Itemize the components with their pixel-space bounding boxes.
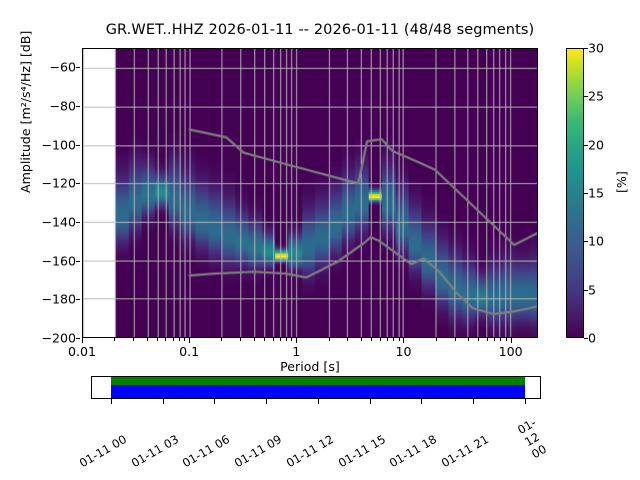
x-axis-tick-mark bbox=[506, 338, 507, 341]
time-axis-tick-label: 01-11 15 bbox=[335, 432, 387, 470]
y-axis-tick-label: −160 bbox=[6, 253, 76, 268]
x-axis-tick-mark bbox=[291, 338, 292, 341]
y-axis-tick-mark bbox=[76, 183, 80, 184]
ppsd-density-canvas bbox=[83, 49, 537, 337]
time-axis-tick-mark bbox=[318, 399, 319, 404]
y-axis-tick-mark bbox=[76, 67, 80, 68]
y-axis-tick-mark bbox=[76, 222, 80, 223]
time-axis-tick-mark bbox=[473, 399, 474, 404]
y-axis-tick-label: −80 bbox=[6, 99, 76, 114]
time-axis-tick-mark bbox=[525, 399, 526, 404]
x-axis-tick-mark bbox=[399, 338, 400, 341]
y-axis-tick-mark bbox=[76, 261, 80, 262]
time-axis-tick-mark bbox=[370, 399, 371, 404]
colorbar-tick-label: 15 bbox=[588, 186, 604, 201]
x-axis-tick-label: 0.01 bbox=[68, 344, 96, 359]
x-axis-tick-mark bbox=[380, 338, 381, 341]
y-axis-tick-mark bbox=[76, 106, 80, 107]
x-axis-tick-mark bbox=[157, 338, 158, 341]
time-axis-tick-mark bbox=[214, 399, 215, 404]
x-axis-label: Period [s] bbox=[82, 359, 538, 374]
time-axis-tick-label: 01-11 21 bbox=[439, 432, 491, 470]
colorbar-tick-label: 0 bbox=[588, 331, 596, 346]
y-axis-tick-label: −120 bbox=[6, 176, 76, 191]
x-axis-tick-mark bbox=[286, 338, 287, 341]
x-axis-tick-mark bbox=[179, 338, 180, 341]
colorbar-tick-mark bbox=[584, 145, 588, 146]
x-axis-tick-mark bbox=[455, 338, 456, 341]
x-axis-tick-mark bbox=[82, 338, 83, 343]
x-axis-tick-mark bbox=[273, 338, 274, 341]
x-axis-tick-mark bbox=[240, 338, 241, 341]
colorbar-tick-mark bbox=[584, 290, 588, 291]
time-axis-tick-label: 01-11 00 bbox=[77, 432, 129, 470]
coverage-bar[interactable] bbox=[91, 376, 541, 399]
x-axis-tick-mark bbox=[487, 338, 488, 341]
time-axis-tick-label: 01-11 18 bbox=[387, 432, 439, 470]
ppsd-figure: GR.WET..HHZ 2026-01-11 -- 2026-01-11 (48… bbox=[0, 0, 640, 480]
colorbar-tick-mark bbox=[584, 338, 588, 339]
y-axis-tick-label: −180 bbox=[6, 292, 76, 307]
y-axis-tick-label: −100 bbox=[6, 137, 76, 152]
colorbar-tick-mark bbox=[584, 96, 588, 97]
time-axis-tick-mark bbox=[266, 399, 267, 404]
y-axis-ticks: −60−80−100−120−140−160−180−200 bbox=[0, 48, 76, 338]
x-axis-tick-mark bbox=[371, 338, 372, 341]
x-axis-tick-label: 10 bbox=[395, 344, 411, 359]
x-axis-tick-mark bbox=[478, 338, 479, 341]
x-axis-tick-mark bbox=[296, 338, 297, 343]
time-axis-tick-label: 01-11 12 bbox=[284, 432, 336, 470]
x-axis-tick-mark bbox=[189, 338, 190, 343]
y-axis-tick-label: −140 bbox=[6, 215, 76, 230]
y-axis-tick-mark bbox=[76, 338, 80, 339]
x-axis-tick-mark bbox=[500, 338, 501, 341]
colorbar-label: [%] bbox=[614, 171, 629, 193]
x-axis-tick-mark bbox=[173, 338, 174, 341]
ppsd-coverage[interactable] bbox=[111, 385, 525, 398]
y-axis-tick-mark bbox=[76, 299, 80, 300]
page-title: GR.WET..HHZ 2026-01-11 -- 2026-01-11 (48… bbox=[0, 22, 640, 38]
x-axis-tick-mark bbox=[221, 338, 222, 341]
y-axis-tick-label: −60 bbox=[6, 60, 76, 75]
x-axis-tick-mark bbox=[147, 338, 148, 341]
y-axis-tick-mark bbox=[76, 145, 80, 146]
time-axis-tick-label: 01-11 03 bbox=[128, 432, 180, 470]
x-axis-tick-mark bbox=[280, 338, 281, 341]
y-axis-tick-label: −200 bbox=[6, 331, 76, 346]
x-axis-tick-mark bbox=[494, 338, 495, 341]
time-axis-tick-mark bbox=[111, 399, 112, 404]
colorbar-tick-mark bbox=[584, 241, 588, 242]
x-axis-tick-mark bbox=[264, 338, 265, 341]
time-axis-tick-label: 01-11 06 bbox=[180, 432, 232, 470]
colorbar-tick-label: 20 bbox=[588, 137, 604, 152]
time-axis-tick-mark bbox=[163, 399, 164, 404]
x-axis-tick-mark bbox=[436, 338, 437, 341]
x-axis-tick-mark bbox=[361, 338, 362, 341]
colorbar-tick-mark bbox=[584, 48, 588, 49]
x-axis-tick-mark bbox=[347, 338, 348, 341]
data-coverage[interactable] bbox=[111, 377, 525, 385]
colorbar-tick-mark bbox=[584, 193, 588, 194]
x-axis-tick-mark bbox=[329, 338, 330, 341]
x-axis-tick-mark bbox=[393, 338, 394, 341]
colorbar-tick-label: 25 bbox=[588, 89, 604, 104]
x-axis-tick-mark bbox=[403, 338, 404, 343]
time-axis-tick-label: 01-12 00 bbox=[515, 415, 552, 461]
x-axis-tick-mark bbox=[184, 338, 185, 341]
ppsd-plot-area[interactable] bbox=[82, 48, 538, 338]
time-axis-tick-label: 01-11 09 bbox=[232, 432, 284, 470]
colorbar-tick-label: 30 bbox=[588, 41, 604, 56]
x-axis-tick-mark bbox=[254, 338, 255, 341]
x-axis-tick-mark bbox=[165, 338, 166, 341]
time-axis-tick-mark bbox=[421, 399, 422, 404]
x-axis-tick-label: 1 bbox=[292, 344, 300, 359]
colorbar-tick-label: 5 bbox=[588, 282, 596, 297]
x-axis-tick-label: 0.1 bbox=[179, 344, 199, 359]
x-axis-tick-mark bbox=[468, 338, 469, 341]
x-axis-tick-mark bbox=[511, 338, 512, 343]
colorbar-ticks: 051015202530 bbox=[566, 48, 640, 338]
time-axis-ticks: 01-11 0001-11 0301-11 0601-11 0901-11 12… bbox=[91, 399, 541, 479]
x-axis-tick-mark bbox=[133, 338, 134, 341]
x-axis-tick-label: 100 bbox=[499, 344, 523, 359]
x-axis-tick-mark bbox=[114, 338, 115, 341]
colorbar-tick-label: 10 bbox=[588, 234, 604, 249]
x-axis-tick-mark bbox=[387, 338, 388, 341]
